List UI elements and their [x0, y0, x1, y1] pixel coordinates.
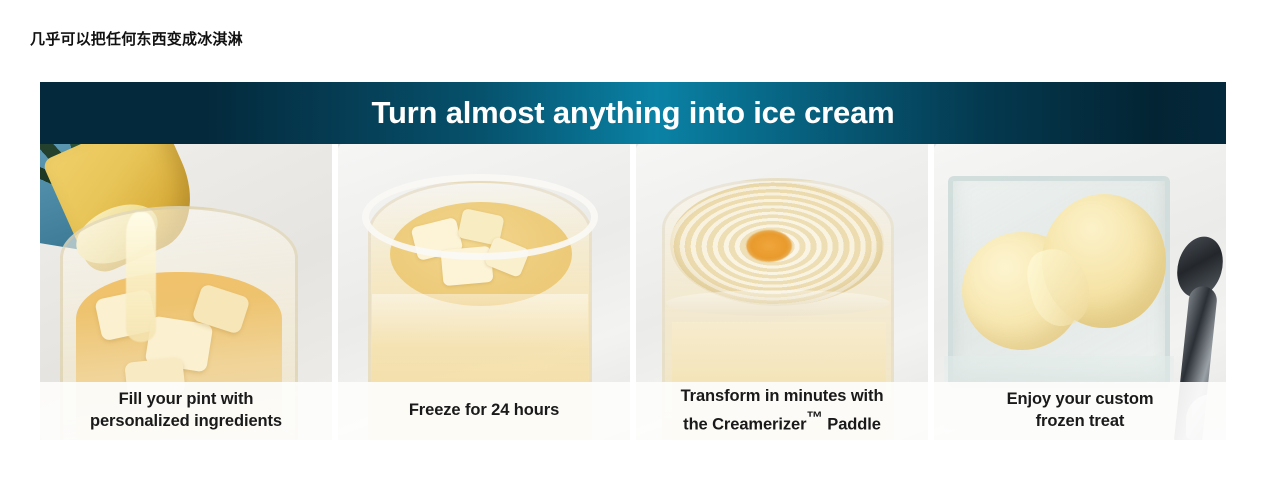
panel-caption-text: Transform in minutes withthe Creamerizer… [681, 386, 884, 436]
pint-rim-icon [666, 290, 890, 316]
promo-panel-transform[interactable]: Transform in minutes withthe Creamerizer… [636, 144, 928, 440]
panel-caption: Transform in minutes withthe Creamerizer… [636, 382, 928, 440]
panel-caption-text: Fill your pint withpersonalized ingredie… [90, 389, 282, 433]
promo-panel-enjoy[interactable]: Enjoy your customfrozen treat [934, 144, 1226, 440]
panel-caption-text: Freeze for 24 hours [409, 400, 559, 422]
caption-line-2-tail: Paddle [823, 415, 881, 433]
caption-line-1: Enjoy your custom [1007, 390, 1154, 408]
caption-line-2: frozen treat [1036, 412, 1125, 430]
panel-caption: Freeze for 24 hours [338, 382, 630, 440]
promo-module: Turn almost anything into ice cream Fill… [40, 82, 1226, 440]
pint-rim-icon [362, 174, 598, 260]
fruit-core-icon [746, 230, 792, 262]
trademark-symbol: ™ [806, 409, 822, 427]
promo-panel-row: Fill your pint withpersonalized ingredie… [40, 144, 1226, 440]
page-title: 几乎可以把任何东西变成冰淇淋 [30, 28, 243, 49]
promo-panel-fill-pint[interactable]: Fill your pint withpersonalized ingredie… [40, 144, 332, 440]
promo-panel-freeze[interactable]: Freeze for 24 hours [338, 144, 630, 440]
promo-banner-title: Turn almost anything into ice cream [372, 95, 895, 131]
panel-caption: Fill your pint withpersonalized ingredie… [40, 382, 332, 440]
caption-line-1: Transform in minutes with [681, 387, 884, 405]
caption-line-1: Fill your pint with [119, 390, 254, 408]
pouring-stream-icon [126, 212, 156, 342]
promo-banner: Turn almost anything into ice cream [40, 82, 1226, 144]
caption-line-2: the Creamerizer [683, 415, 806, 433]
panel-caption: Enjoy your customfrozen treat [934, 382, 1226, 440]
caption-line-2: personalized ingredients [90, 412, 282, 430]
panel-caption-text: Enjoy your customfrozen treat [1007, 389, 1154, 433]
